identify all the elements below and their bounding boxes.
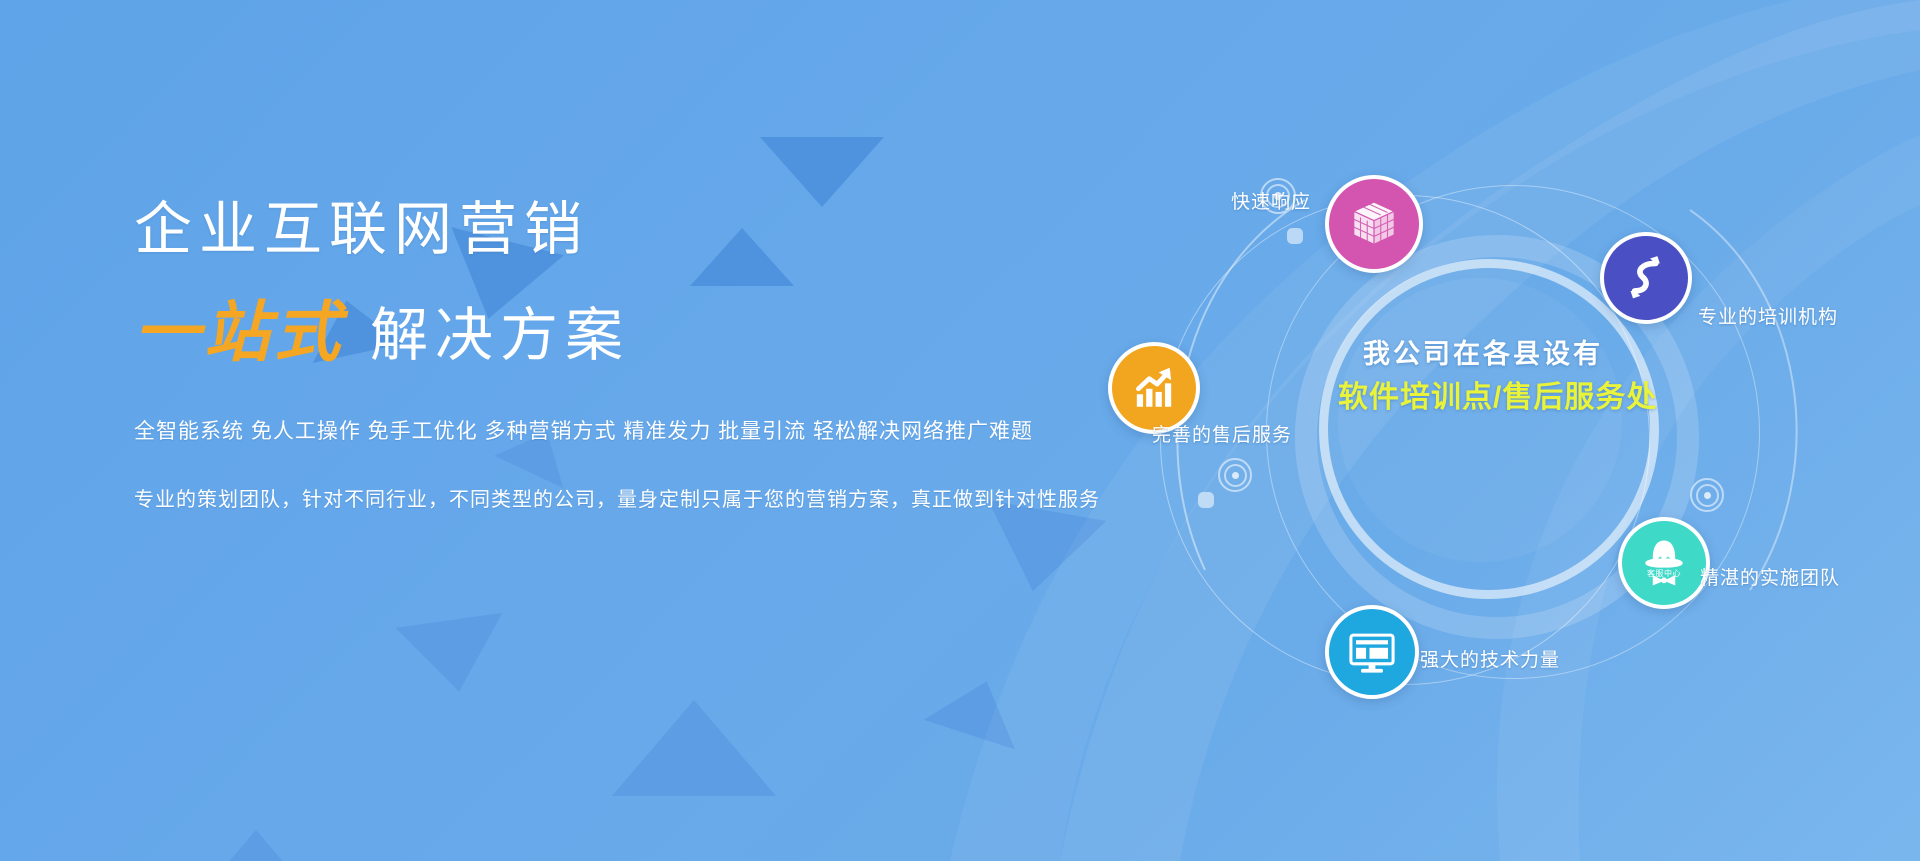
decor-triangle <box>612 700 776 796</box>
node-label-after-sales-service: 完善的售后服务 <box>1152 420 1292 447</box>
node-professional-training[interactable] <box>1600 232 1692 324</box>
node-label-quick-response: 快速响应 <box>1231 187 1311 214</box>
hero-subtitle-rest: 解决方案 <box>370 303 630 368</box>
s-arrow-icon <box>1620 252 1672 304</box>
hero-text-block: 企业互联网营销 一站式解决方案 全智能系统 免人工操作 免手工优化 多种营销方式… <box>134 196 1054 512</box>
decor-triangle <box>924 667 1033 750</box>
center-ring-fill <box>1338 278 1622 562</box>
node-label-professional-training: 专业的培训机构 <box>1698 302 1838 329</box>
arc-tip <box>1198 492 1214 508</box>
node-label-strong-technology: 强大的技术力量 <box>1420 645 1560 672</box>
node-label-skilled-implementation: 精湛的实施团队 <box>1700 563 1840 590</box>
decor-triangle <box>196 830 316 861</box>
center-message: 我公司在各县设有 软件培训点/售后服务处 <box>1338 336 1628 419</box>
marketing-banner: 企业互联网营销 一站式解决方案 全智能系统 免人工操作 免手工优化 多种营销方式… <box>0 0 1920 861</box>
hero-subtitle-highlight: 一站式 <box>134 295 344 369</box>
node-skilled-implementation[interactable]: 客服中心 <box>1618 517 1710 609</box>
service-network-graphic: 我公司在各县设有 软件培训点/售后服务处 <box>1090 140 1900 760</box>
rubiks-cube-icon <box>1347 197 1401 251</box>
node-strong-technology[interactable] <box>1325 605 1419 699</box>
target-marker-icon <box>1218 458 1252 492</box>
customer-service-caption: 客服中心 <box>1634 568 1694 579</box>
center-message-line-1: 我公司在各县设有 <box>1338 336 1628 372</box>
hero-body-line-1: 全智能系统 免人工操作 免手工优化 多种营销方式 精准发力 批量引流 轻松解决网… <box>134 415 1054 445</box>
hero-subtitle: 一站式解决方案 <box>134 296 1054 369</box>
target-marker-icon <box>1690 478 1724 512</box>
hero-body-line-2: 专业的策划团队，针对不同行业，不同类型的公司，量身定制只属于您的营销方案，真正做… <box>134 483 1054 512</box>
node-quick-response[interactable] <box>1325 175 1423 273</box>
center-message-line-2: 软件培训点/售后服务处 <box>1338 378 1628 419</box>
decor-triangle <box>396 613 513 699</box>
arc-tip <box>1287 228 1303 244</box>
decor-triangle <box>974 500 1106 602</box>
monitor-icon <box>1345 625 1399 679</box>
customer-service-hat-icon: 客服中心 <box>1634 534 1694 592</box>
growth-chart-icon <box>1129 363 1179 413</box>
page-title: 企业互联网营销 <box>134 196 1054 264</box>
